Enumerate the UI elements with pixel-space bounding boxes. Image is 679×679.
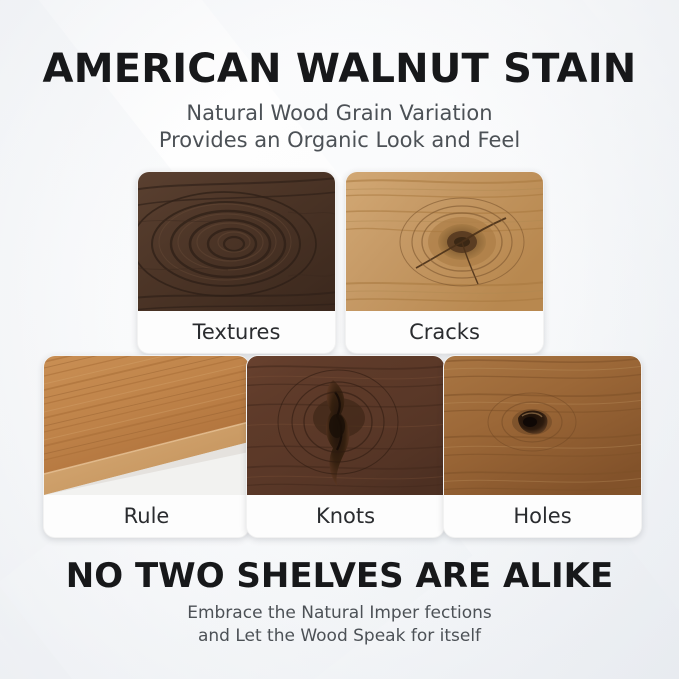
footer-subtitle: Embrace the Natural Imper fections and L… bbox=[0, 602, 679, 648]
light-oak-knot-crack-photo bbox=[346, 172, 543, 311]
footer-subtitle-line-1: Embrace the Natural Imper fections bbox=[0, 602, 679, 625]
feature-card-holes: Holes bbox=[443, 355, 642, 538]
feature-card-label: Textures bbox=[138, 311, 335, 353]
page-subtitle: Natural Wood Grain Variation Provides an… bbox=[0, 100, 679, 154]
footer-title: NO TWO SHELVES ARE ALIKE bbox=[0, 556, 679, 596]
feature-card-cracks: Cracks bbox=[345, 171, 544, 354]
page-title: AMERICAN WALNUT STAIN bbox=[0, 46, 679, 92]
dark-walnut-grain-swirl-photo bbox=[138, 172, 335, 311]
feature-card-label: Cracks bbox=[346, 311, 543, 353]
feature-card-label: Knots bbox=[247, 495, 444, 537]
feature-card-rule: Rule bbox=[43, 355, 250, 538]
footer-subtitle-line-2: and Let the Wood Speak for itself bbox=[0, 625, 679, 648]
feature-card-textures: Textures bbox=[137, 171, 336, 354]
wood-surface-hole-photo bbox=[444, 356, 641, 495]
dark-walnut-knot-photo bbox=[247, 356, 444, 495]
page-subtitle-line-2: Provides an Organic Look and Feel bbox=[0, 127, 679, 154]
feature-card-label: Holes bbox=[444, 495, 641, 537]
promo-graphic: AMERICAN WALNUT STAIN Natural Wood Grain… bbox=[0, 0, 679, 679]
feature-card-knots: Knots bbox=[246, 355, 445, 538]
feature-card-label: Rule bbox=[44, 495, 249, 537]
page-subtitle-line-1: Natural Wood Grain Variation bbox=[0, 100, 679, 127]
wood-edge-straight-grain-photo bbox=[44, 356, 249, 495]
